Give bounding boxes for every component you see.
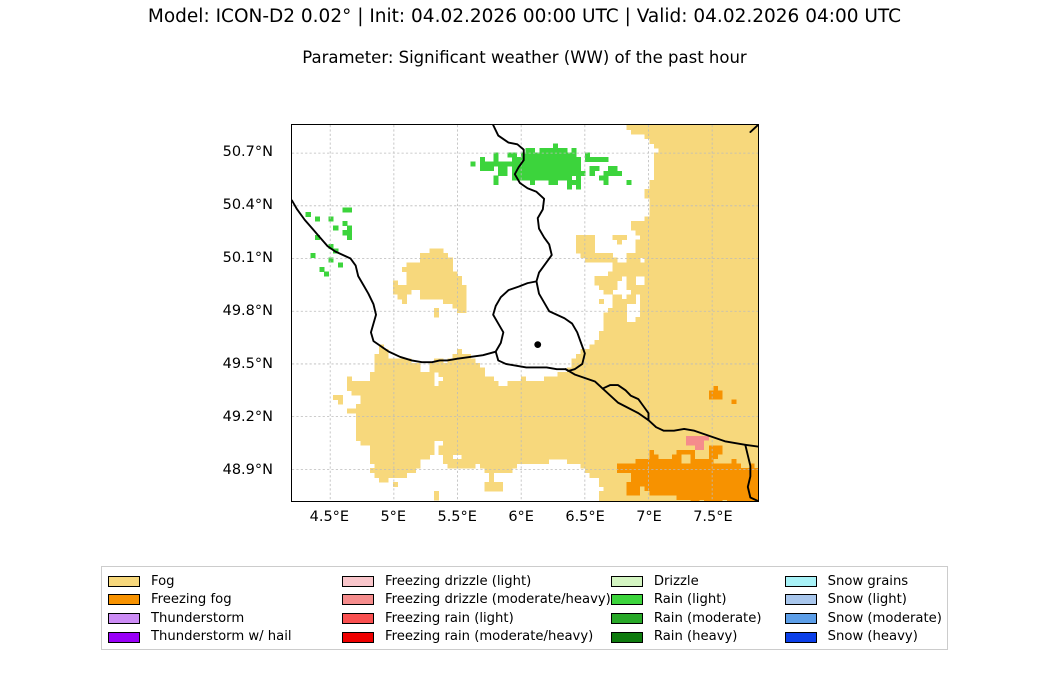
legend-label: Freezing rain (light): [385, 612, 514, 625]
y-tick-label: 48.9°N: [223, 462, 273, 478]
x-tick-label: 7.5°E: [693, 509, 732, 525]
legend-label: Freezing drizzle (light): [385, 575, 531, 588]
x-tick-label: 5°E: [380, 509, 406, 525]
legend-label: Freezing rain (moderate/heavy): [385, 630, 593, 643]
legend-label: Snow (moderate): [828, 612, 942, 625]
map-canvas: [292, 125, 758, 501]
legend-entry: Freezing drizzle (moderate/heavy): [342, 591, 611, 610]
legend-swatch: [785, 594, 817, 605]
legend-column-4: Snow grainsSnow (light)Snow (moderate)Sn…: [785, 572, 947, 646]
legend-swatch: [785, 576, 817, 587]
map-plot-area[interactable]: [291, 124, 759, 502]
legend-swatch: [611, 613, 643, 624]
y-tick-label: 50.7°N: [223, 144, 273, 160]
legend-entry: Snow (light): [785, 591, 947, 610]
legend-swatch: [108, 576, 140, 587]
legend-entry: Rain (moderate): [611, 609, 785, 628]
legend-swatch: [611, 594, 643, 605]
legend-entry: Thunderstorm: [108, 609, 342, 628]
legend-swatch: [785, 632, 817, 643]
legend-label: Rain (heavy): [654, 630, 738, 643]
y-tick-label: 50.4°N: [223, 197, 273, 213]
legend-label: Fog: [151, 575, 175, 588]
legend-entry: Freezing rain (light): [342, 609, 611, 628]
legend-entry: Rain (light): [611, 591, 785, 610]
x-tick-label: 4.5°E: [310, 509, 349, 525]
y-tick-label: 49.2°N: [223, 409, 273, 425]
legend-entry: Thunderstorm w/ hail: [108, 628, 342, 647]
x-axis-tick-labels: 4.5°E5°E5.5°E6°E6.5°E7°E7.5°E: [291, 509, 759, 533]
legend-swatch: [611, 576, 643, 587]
legend-swatch: [611, 632, 643, 643]
legend-label: Freezing fog: [151, 593, 232, 606]
legend-entry: Drizzle: [611, 572, 785, 591]
legend-label: Thunderstorm w/ hail: [151, 630, 292, 643]
legend-swatch: [108, 613, 140, 624]
x-tick-label: 5.5°E: [437, 509, 476, 525]
legend-swatch: [785, 613, 817, 624]
legend-column-1: FogFreezing fogThunderstormThunderstorm …: [108, 572, 342, 646]
legend-entry: Freezing fog: [108, 591, 342, 610]
legend-swatch: [342, 632, 374, 643]
x-tick-label: 6.5°E: [565, 509, 604, 525]
legend-entry: Fog: [108, 572, 342, 591]
legend-column-3: DrizzleRain (light)Rain (moderate)Rain (…: [611, 572, 785, 646]
x-tick-label: 7°E: [636, 509, 662, 525]
legend-label: Rain (light): [654, 593, 727, 606]
legend: FogFreezing fogThunderstormThunderstorm …: [101, 566, 948, 650]
map-marker-layer: [534, 341, 541, 348]
y-tick-label: 49.5°N: [223, 356, 273, 372]
legend-label: Rain (moderate): [654, 612, 762, 625]
legend-label: Snow grains: [828, 575, 909, 588]
x-tick-label: 6°E: [508, 509, 534, 525]
legend-entry: Snow (heavy): [785, 628, 947, 647]
legend-entry: Snow (moderate): [785, 609, 947, 628]
legend-swatch: [342, 576, 374, 587]
legend-label: Freezing drizzle (moderate/heavy): [385, 593, 611, 606]
legend-swatch: [342, 613, 374, 624]
weather-field: [306, 125, 758, 501]
legend-entry: Freezing drizzle (light): [342, 572, 611, 591]
legend-entry: Snow grains: [785, 572, 947, 591]
legend-entry: Rain (heavy): [611, 628, 785, 647]
legend-entry: Freezing rain (moderate/heavy): [342, 628, 611, 647]
legend-swatch: [342, 594, 374, 605]
city-marker-dot: [534, 341, 541, 348]
legend-label: Thunderstorm: [151, 612, 244, 625]
legend-label: Snow (light): [828, 593, 907, 606]
y-tick-label: 50.1°N: [223, 250, 273, 266]
legend-label: Snow (heavy): [828, 630, 918, 643]
legend-swatch: [108, 632, 140, 643]
legend-label: Drizzle: [654, 575, 699, 588]
legend-swatch: [108, 594, 140, 605]
y-axis-tick-labels: 50.7°N50.4°N50.1°N49.8°N49.5°N49.2°N48.9…: [0, 124, 283, 502]
legend-column-2: Freezing drizzle (light)Freezing drizzle…: [342, 572, 611, 646]
y-tick-label: 49.8°N: [223, 303, 273, 319]
